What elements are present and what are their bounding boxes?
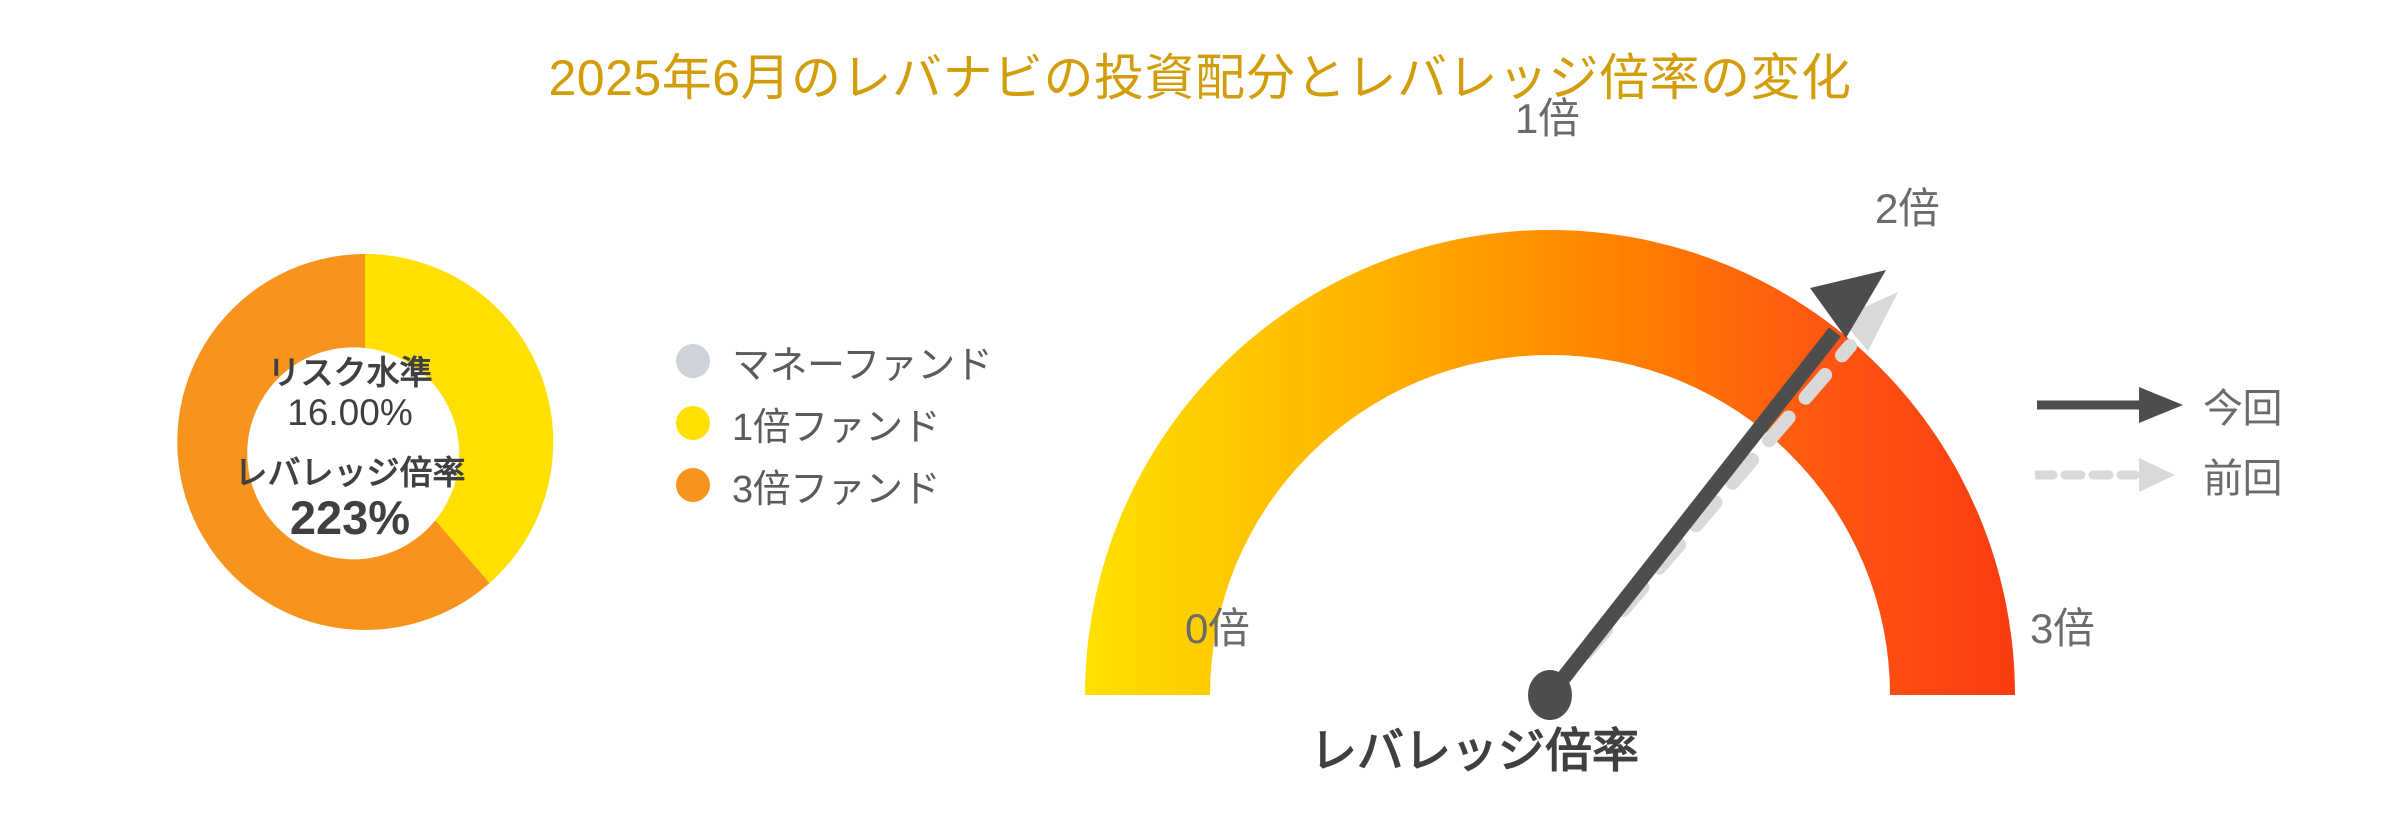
gauge-legend: 今回 前回 bbox=[2035, 370, 2385, 510]
donut-legend: マネーファンド 1倍ファンド 3倍ファンド bbox=[676, 330, 1046, 516]
legend-swatch-icon bbox=[676, 344, 710, 378]
legend-swatch-icon bbox=[676, 406, 710, 440]
legend-label: マネーファンド bbox=[732, 334, 992, 389]
leverage-value: 223% bbox=[185, 492, 515, 545]
risk-level-value: 16.00% bbox=[185, 392, 515, 433]
donut-center-text: リスク水準 16.00% レバレッジ倍率 223% bbox=[185, 355, 515, 545]
legend-label: 3倍ファンド bbox=[732, 458, 940, 513]
solid-arrow-icon bbox=[2035, 385, 2185, 425]
legend-label: 今回 bbox=[2203, 376, 2282, 434]
legend-item-current[interactable]: 今回 bbox=[2035, 370, 2385, 440]
donut-chart: リスク水準 16.00% レバレッジ倍率 223% bbox=[60, 150, 670, 750]
gauge-caption: レバレッジ倍率 bbox=[1310, 712, 1639, 781]
spacer bbox=[185, 433, 515, 455]
legend-item-money-fund[interactable]: マネーファンド bbox=[676, 330, 1046, 392]
gauge-tick-0: 0倍 bbox=[1185, 595, 1249, 656]
gauge-tick-1: 1倍 bbox=[1515, 85, 1579, 146]
gauge-tick-3: 3倍 bbox=[2030, 595, 2094, 656]
legend-label: 1倍ファンド bbox=[732, 396, 940, 451]
legend-item-3x-fund[interactable]: 3倍ファンド bbox=[676, 454, 1046, 516]
leverage-label: レバレッジ倍率 bbox=[185, 455, 515, 492]
chart-canvas: 2025年6月のレバナビの投資配分とレバレッジ倍率の変化 リスク水準 16.00… bbox=[0, 0, 2400, 820]
gauge-svg bbox=[1020, 150, 2120, 770]
legend-label: 前回 bbox=[2203, 446, 2282, 504]
gauge-chart bbox=[1020, 150, 2120, 770]
dashed-arrow-icon bbox=[2035, 455, 2185, 495]
page-title: 2025年6月のレバナビの投資配分とレバレッジ倍率の変化 bbox=[0, 38, 2400, 110]
legend-item-previous[interactable]: 前回 bbox=[2035, 440, 2385, 510]
legend-item-1x-fund[interactable]: 1倍ファンド bbox=[676, 392, 1046, 454]
gauge-tick-2: 2倍 bbox=[1875, 175, 1939, 236]
risk-level-label: リスク水準 bbox=[185, 355, 515, 392]
legend-swatch-icon bbox=[676, 468, 710, 502]
